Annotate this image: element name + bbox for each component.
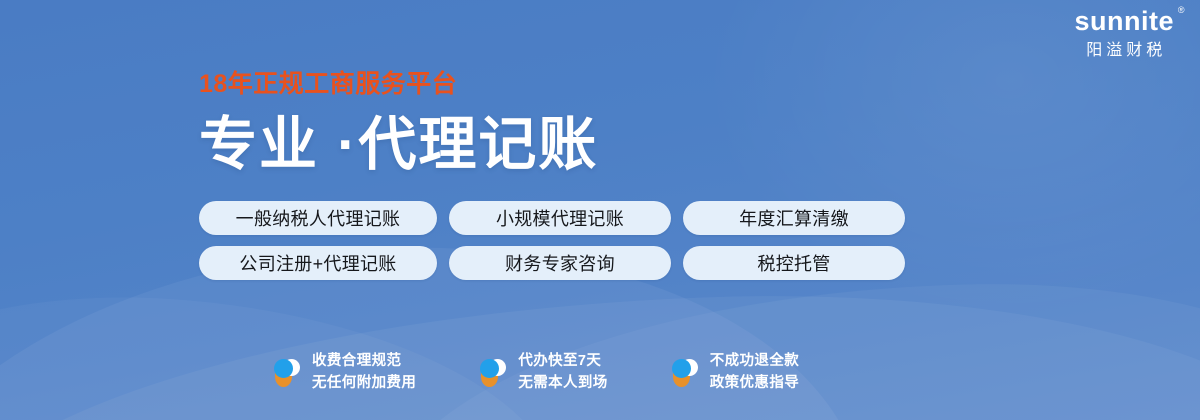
feature-line-1: 收费合理规范 xyxy=(312,353,401,369)
dot-shape xyxy=(274,359,293,378)
feature-item: 不成功退全款 政策优惠指导 xyxy=(670,350,799,394)
feature-text: 收费合理规范 无任何附加费用 xyxy=(312,350,416,394)
feature-item: 收费合理规范 无任何附加费用 xyxy=(272,350,416,394)
circle-moon-drop-icon xyxy=(478,354,508,390)
feature-line-2: 政策优惠指导 xyxy=(710,375,799,391)
background-wave-2 xyxy=(0,273,1200,420)
brand-chinese-name: 阳溢财税 xyxy=(1074,43,1174,59)
service-pill[interactable]: 财务专家咨询 xyxy=(449,246,671,280)
background-wave-3 xyxy=(377,277,1200,420)
promo-banner: sunnite® 阳溢财税 18年正规工商服务平台 专业 ·代理记账 一般纳税人… xyxy=(0,0,1200,420)
feature-strip: 收费合理规范 无任何附加费用 代办快至7天 无需本人到场 不成功退全款 xyxy=(272,350,799,394)
hero-headline: 专业 ·代理记账 xyxy=(199,115,598,176)
feature-line-1: 代办快至7天 xyxy=(518,353,601,369)
service-pill[interactable]: 税控托管 xyxy=(683,246,905,280)
circle-moon-drop-icon xyxy=(670,354,700,390)
feature-line-2: 无任何附加费用 xyxy=(312,375,416,391)
service-pill-grid: 一般纳税人代理记账 小规模代理记账 年度汇算清缴 公司注册+代理记账 财务专家咨… xyxy=(199,201,905,280)
feature-text: 不成功退全款 政策优惠指导 xyxy=(710,350,799,394)
registered-trademark-icon: ® xyxy=(1178,6,1185,15)
service-pill[interactable]: 公司注册+代理记账 xyxy=(199,246,437,280)
feature-line-1: 不成功退全款 xyxy=(710,353,799,369)
hero-copy: 18年正规工商服务平台 专业 ·代理记账 xyxy=(199,72,598,176)
brand-wordmark: sunnite® xyxy=(1074,8,1174,35)
circle-moon-drop-icon xyxy=(272,354,302,390)
service-pill[interactable]: 一般纳税人代理记账 xyxy=(199,201,437,235)
brand-logo[interactable]: sunnite® 阳溢财税 xyxy=(1074,8,1174,59)
hero-tagline: 18年正规工商服务平台 xyxy=(199,72,598,97)
service-pill[interactable]: 年度汇算清缴 xyxy=(683,201,905,235)
feature-line-2: 无需本人到场 xyxy=(518,375,607,391)
background-wave-4 xyxy=(0,274,570,420)
service-pill[interactable]: 小规模代理记账 xyxy=(449,201,671,235)
dot-shape xyxy=(672,359,691,378)
feature-item: 代办快至7天 无需本人到场 xyxy=(478,350,607,394)
feature-text: 代办快至7天 无需本人到场 xyxy=(518,350,607,394)
